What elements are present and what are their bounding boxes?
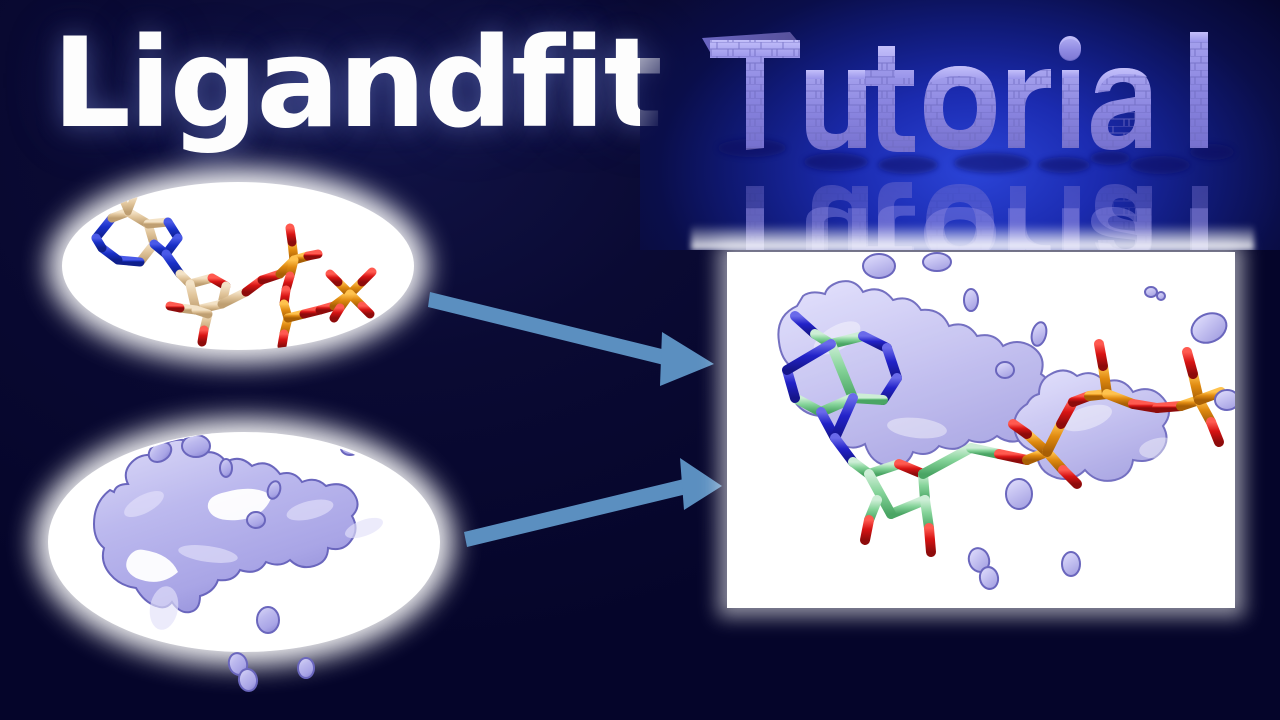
tutorial-letter-o [924,66,996,150]
tutorial-banner [640,0,1280,250]
tutorial-letter-t [865,46,915,152]
ligand-model-oval-clip [62,182,414,350]
density-map-oval-clip [48,432,440,692]
tutorial-letter-a [1091,68,1151,150]
arrow-density-to-result [440,450,730,560]
tutorial-letter-l [1190,32,1208,148]
fitted-result-panel [727,252,1235,608]
tutorial-letter-T [702,32,800,150]
tutorial-letter-u [806,70,866,150]
arrow-ligand-to-result [424,280,724,400]
atp-stick-model [62,182,414,350]
tutorial-3d-text [640,0,1280,250]
tutorial-letter-r [1008,69,1051,148]
electron-density-blob [48,432,440,692]
slide-root: Ligandfit [0,0,1280,720]
tutorial-letter-i [1059,36,1081,148]
page-title: Ligandfit [52,22,661,146]
fitted-ligand-in-density [727,252,1235,608]
